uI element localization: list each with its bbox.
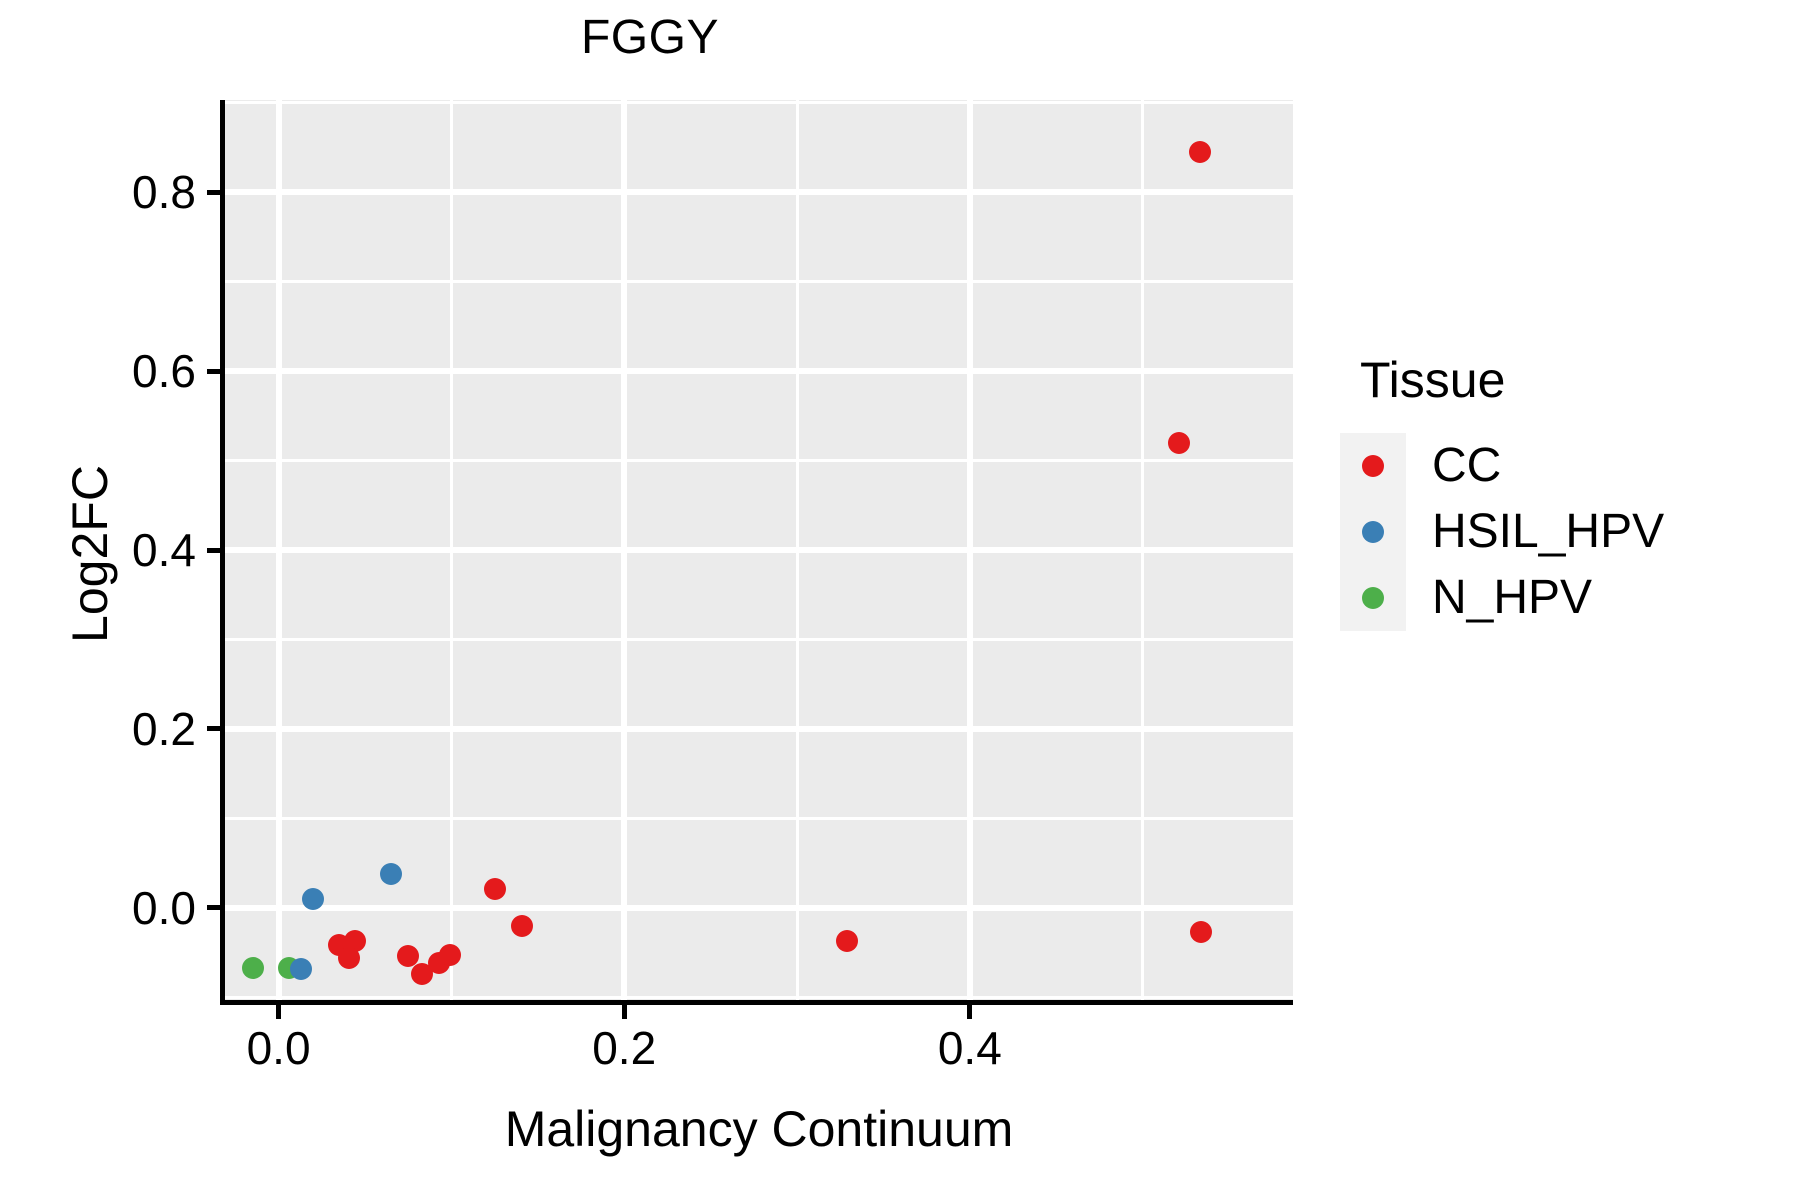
x-tick-label: 0.4: [870, 1022, 1070, 1074]
y-axis-title: Log2FC: [61, 204, 119, 904]
data-point: [836, 930, 858, 952]
legend-label: N_HPV: [1432, 574, 1592, 622]
gridline-y-minor: [225, 459, 1293, 462]
data-point: [439, 944, 461, 966]
gridline-y-minor: [225, 101, 1293, 104]
data-point: [338, 947, 360, 969]
data-point: [1190, 921, 1212, 943]
data-point: [302, 888, 324, 910]
gridline-y-major: [225, 547, 1293, 553]
gridline-y-major: [225, 368, 1293, 374]
scatter-plot-figure: FGGY 0.00.20.40.60.8 0.00.20.4 Log2FC Ma…: [0, 0, 1800, 1200]
legend-dot-icon: [1362, 587, 1384, 609]
plot-panel: [225, 100, 1293, 1000]
legend-entries: CCHSIL_HPVN_HPV: [1340, 433, 1664, 631]
legend-title: Tissue: [1360, 355, 1505, 405]
legend-item-hsil_hpv[interactable]: HSIL_HPV: [1340, 499, 1664, 565]
x-tick-label: 0.2: [524, 1022, 724, 1074]
gridline-y-minor: [225, 280, 1293, 283]
gridline-y-major: [225, 905, 1293, 911]
y-tick-mark: [207, 190, 220, 195]
legend-swatch-hsil_hpv: [1340, 499, 1406, 565]
y-axis-line: [220, 100, 225, 1000]
legend-dot-icon: [1362, 521, 1384, 543]
x-axis-line: [220, 1000, 1293, 1005]
gridline-y-minor: [225, 996, 1293, 999]
gridline-y-minor: [225, 817, 1293, 820]
data-point: [511, 915, 533, 937]
data-point: [1168, 432, 1190, 454]
y-tick-mark: [207, 548, 220, 553]
legend-item-n_hpv[interactable]: N_HPV: [1340, 565, 1664, 631]
legend-item-cc[interactable]: CC: [1340, 433, 1664, 499]
y-tick-mark: [207, 726, 220, 731]
legend-label: CC: [1432, 442, 1501, 490]
legend-swatch-cc: [1340, 433, 1406, 499]
data-point: [380, 863, 402, 885]
data-point: [290, 958, 312, 980]
gridline-y-minor: [225, 638, 1293, 641]
data-point: [242, 957, 264, 979]
y-tick-mark: [207, 905, 220, 910]
page-title: FGGY: [0, 10, 1300, 65]
gridline-y-major: [225, 189, 1293, 195]
data-point: [484, 878, 506, 900]
legend-label: HSIL_HPV: [1432, 508, 1664, 556]
x-axis-title: Malignancy Continuum: [225, 1100, 1293, 1158]
x-tick-mark: [967, 1005, 972, 1019]
data-point: [1189, 141, 1211, 163]
y-tick-mark: [207, 369, 220, 374]
legend-swatch-n_hpv: [1340, 565, 1406, 631]
x-tick-label: 0.0: [179, 1022, 379, 1074]
x-tick-mark: [622, 1005, 627, 1019]
x-tick-mark: [276, 1005, 281, 1019]
legend-dot-icon: [1362, 455, 1384, 477]
gridline-y-major: [225, 726, 1293, 732]
